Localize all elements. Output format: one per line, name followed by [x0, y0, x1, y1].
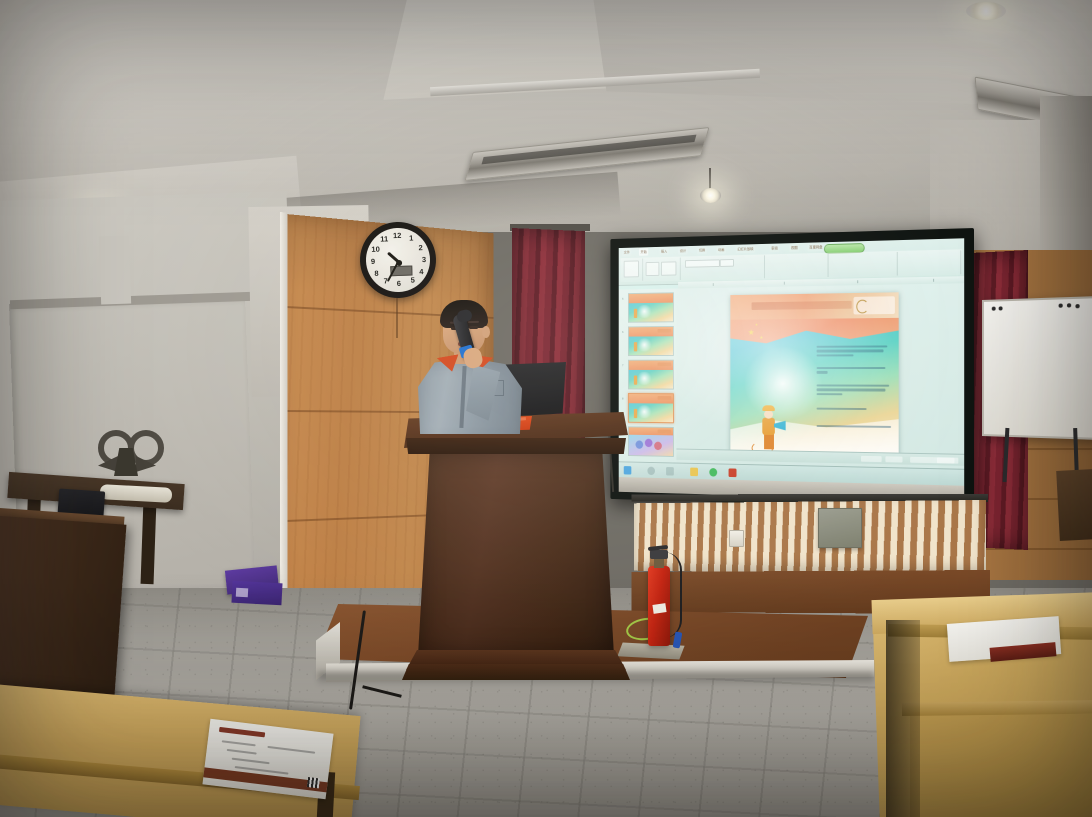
clock-numeral: 4 [416, 267, 426, 277]
tab-transitions[interactable]: 切换 [697, 247, 707, 255]
font-size-box[interactable] [720, 259, 734, 267]
clock-numeral: 6 [394, 279, 404, 289]
document-text-line [222, 740, 256, 746]
tab-view[interactable]: 视图 [789, 244, 799, 252]
magnet-icon[interactable] [1067, 303, 1071, 307]
ppt-icon[interactable] [729, 468, 737, 477]
document-text-line [267, 746, 315, 754]
thumb-circle [645, 439, 653, 447]
group-editing[interactable] [897, 250, 961, 275]
striped-wainscoting [634, 500, 986, 574]
document-text-line [232, 758, 270, 765]
slide-thumbnail[interactable] [628, 326, 674, 356]
thumb-figure [634, 408, 637, 418]
thumb-number: 6 [622, 330, 623, 334]
text-line [817, 354, 854, 356]
worker-body [762, 418, 775, 435]
document-text-line [227, 749, 257, 755]
paste-button[interactable] [624, 260, 639, 277]
text-line [817, 371, 828, 373]
presenter-ear [482, 326, 490, 338]
thumb-circle [654, 442, 662, 451]
slide-thumbnail[interactable] [628, 426, 674, 457]
ruler-tick [857, 280, 858, 283]
whiteboard-on-stand[interactable] [982, 300, 1092, 470]
tab-baidu-netdisk[interactable]: 百度网盘 [807, 243, 824, 251]
clock-face: 12 1 2 3 4 5 6 7 8 9 10 11 [365, 227, 431, 293]
font-name-box[interactable] [685, 259, 720, 267]
lectern-body [418, 450, 614, 656]
presenter [398, 300, 530, 432]
clock-numeral: 12 [392, 231, 402, 241]
thumb-figure [634, 342, 637, 352]
tab-review[interactable]: 审阅 [769, 244, 779, 252]
wall-socket[interactable] [729, 530, 744, 547]
thumb-figure [634, 375, 637, 385]
worker-legs [764, 434, 774, 449]
layout-button[interactable] [661, 261, 676, 275]
clock-numeral: 9 [368, 257, 378, 267]
thumb-tag [658, 430, 672, 434]
language-indicator [885, 456, 902, 462]
tab-home[interactable]: 开始 [639, 248, 648, 256]
tab-insert[interactable]: 插入 [659, 248, 669, 256]
slide-thumbnail[interactable] [628, 360, 674, 390]
new-slide-button[interactable] [646, 262, 660, 276]
front-desk-right-panel [910, 714, 1092, 817]
extinguisher-label [652, 603, 666, 614]
megaphone-icon [774, 421, 786, 431]
chair [1056, 469, 1092, 541]
tab-animations[interactable]: 动画 [716, 246, 726, 254]
text-line [817, 367, 886, 369]
slide-paragraph [817, 367, 888, 376]
search-icon[interactable] [647, 467, 655, 476]
lectern-top-face [406, 438, 626, 454]
dark-wooden-bench [0, 516, 126, 715]
pendant-cord [709, 168, 711, 190]
presenter-eyebrow [468, 321, 479, 323]
slide-paragraph [817, 408, 867, 413]
clock-numeral: 5 [408, 275, 418, 285]
tab-file[interactable]: 文件 [622, 249, 631, 257]
clock-numeral: 8 [371, 269, 381, 279]
current-slide[interactable]: 风驰机械 FENGCHI [730, 292, 898, 455]
worker-head [764, 410, 773, 419]
left-wall-pilaster [99, 235, 131, 304]
task-view-icon[interactable] [666, 467, 674, 476]
magnet-icon[interactable] [999, 306, 1003, 310]
clock-center-pin [395, 259, 401, 265]
ruler-tick [784, 282, 785, 285]
thumb-figure [634, 308, 637, 318]
group-paragraph[interactable] [764, 254, 828, 279]
training-room-photo: 12 1 2 3 4 5 6 7 8 9 10 11 文件 [0, 0, 1092, 817]
wall-access-panel[interactable] [818, 508, 862, 548]
slide-thumbnail-selected[interactable] [628, 393, 674, 423]
text-line [817, 384, 890, 387]
wechat-icon[interactable] [709, 468, 717, 477]
folder-icon[interactable] [690, 468, 698, 477]
thumb-number: 5 [622, 297, 623, 301]
clock-numeral: 11 [379, 234, 389, 244]
tab-slideshow[interactable]: 幻灯片放映 [736, 245, 755, 253]
text-line [817, 389, 886, 392]
slide-paragraph [817, 384, 890, 397]
thumb-tag [658, 329, 672, 333]
slide-thumbnail[interactable] [628, 292, 674, 322]
clock-numeral: 3 [419, 255, 429, 265]
extinguisher-neck [654, 558, 664, 568]
screen-surface[interactable]: 文件 开始 插入 设计 切换 动画 幻灯片放映 审阅 视图 百度网盘 [619, 238, 964, 485]
magnet-icon[interactable] [992, 307, 996, 311]
zoom-control[interactable] [937, 457, 958, 463]
whiteboard-surface[interactable] [982, 296, 1092, 440]
magnet-icon[interactable] [1059, 304, 1063, 308]
box-label [236, 588, 248, 598]
slide-indicator [861, 455, 882, 461]
ruler-tick [933, 279, 934, 282]
thumb-number: 8 [622, 397, 623, 401]
text-line [817, 350, 884, 353]
extinguisher-valve [650, 550, 668, 559]
clock-numeral: 1 [406, 233, 416, 243]
front-desk-right-shadow [886, 620, 920, 817]
text-line [817, 345, 888, 348]
ceiling-light-right-icon [966, 2, 1006, 20]
pendant-light-icon [700, 188, 721, 203]
projection-screen[interactable]: 文件 开始 插入 设计 切换 动画 幻灯片放映 审阅 视图 百度网盘 [610, 228, 974, 510]
text-line [817, 393, 843, 395]
worker-illustration [757, 405, 780, 449]
magnet-icon[interactable] [1075, 304, 1079, 308]
presenter-eye [469, 326, 478, 329]
slide-editing-canvas[interactable]: 风驰机械 FENGCHI [676, 283, 964, 469]
ruler-tick [713, 283, 714, 286]
clock-numeral: 10 [370, 245, 380, 255]
hard-hat-icon [762, 405, 775, 411]
lectern-plinth [402, 664, 630, 680]
lectern [404, 412, 628, 688]
qr-code-icon [307, 777, 320, 788]
clock-numeral: 2 [415, 243, 425, 253]
pulley-hoist-display [96, 430, 158, 484]
fire-extinguisher [642, 544, 672, 652]
text-line [817, 425, 892, 428]
slide-title-banner: 风驰机械 FENGCHI [730, 292, 898, 319]
slide-illustration [730, 318, 898, 456]
slide-paragraph [817, 345, 888, 358]
slide-title [752, 301, 852, 310]
group-drawing[interactable] [828, 252, 898, 277]
thumb-circle [636, 440, 644, 448]
document-header [219, 727, 265, 738]
text-line [817, 408, 867, 411]
tab-design[interactable]: 设计 [678, 247, 688, 255]
logo-mark-icon [856, 300, 868, 314]
thumb-tag [658, 396, 672, 400]
thumb-tag [658, 362, 672, 366]
thumb-number: 7 [622, 363, 623, 367]
